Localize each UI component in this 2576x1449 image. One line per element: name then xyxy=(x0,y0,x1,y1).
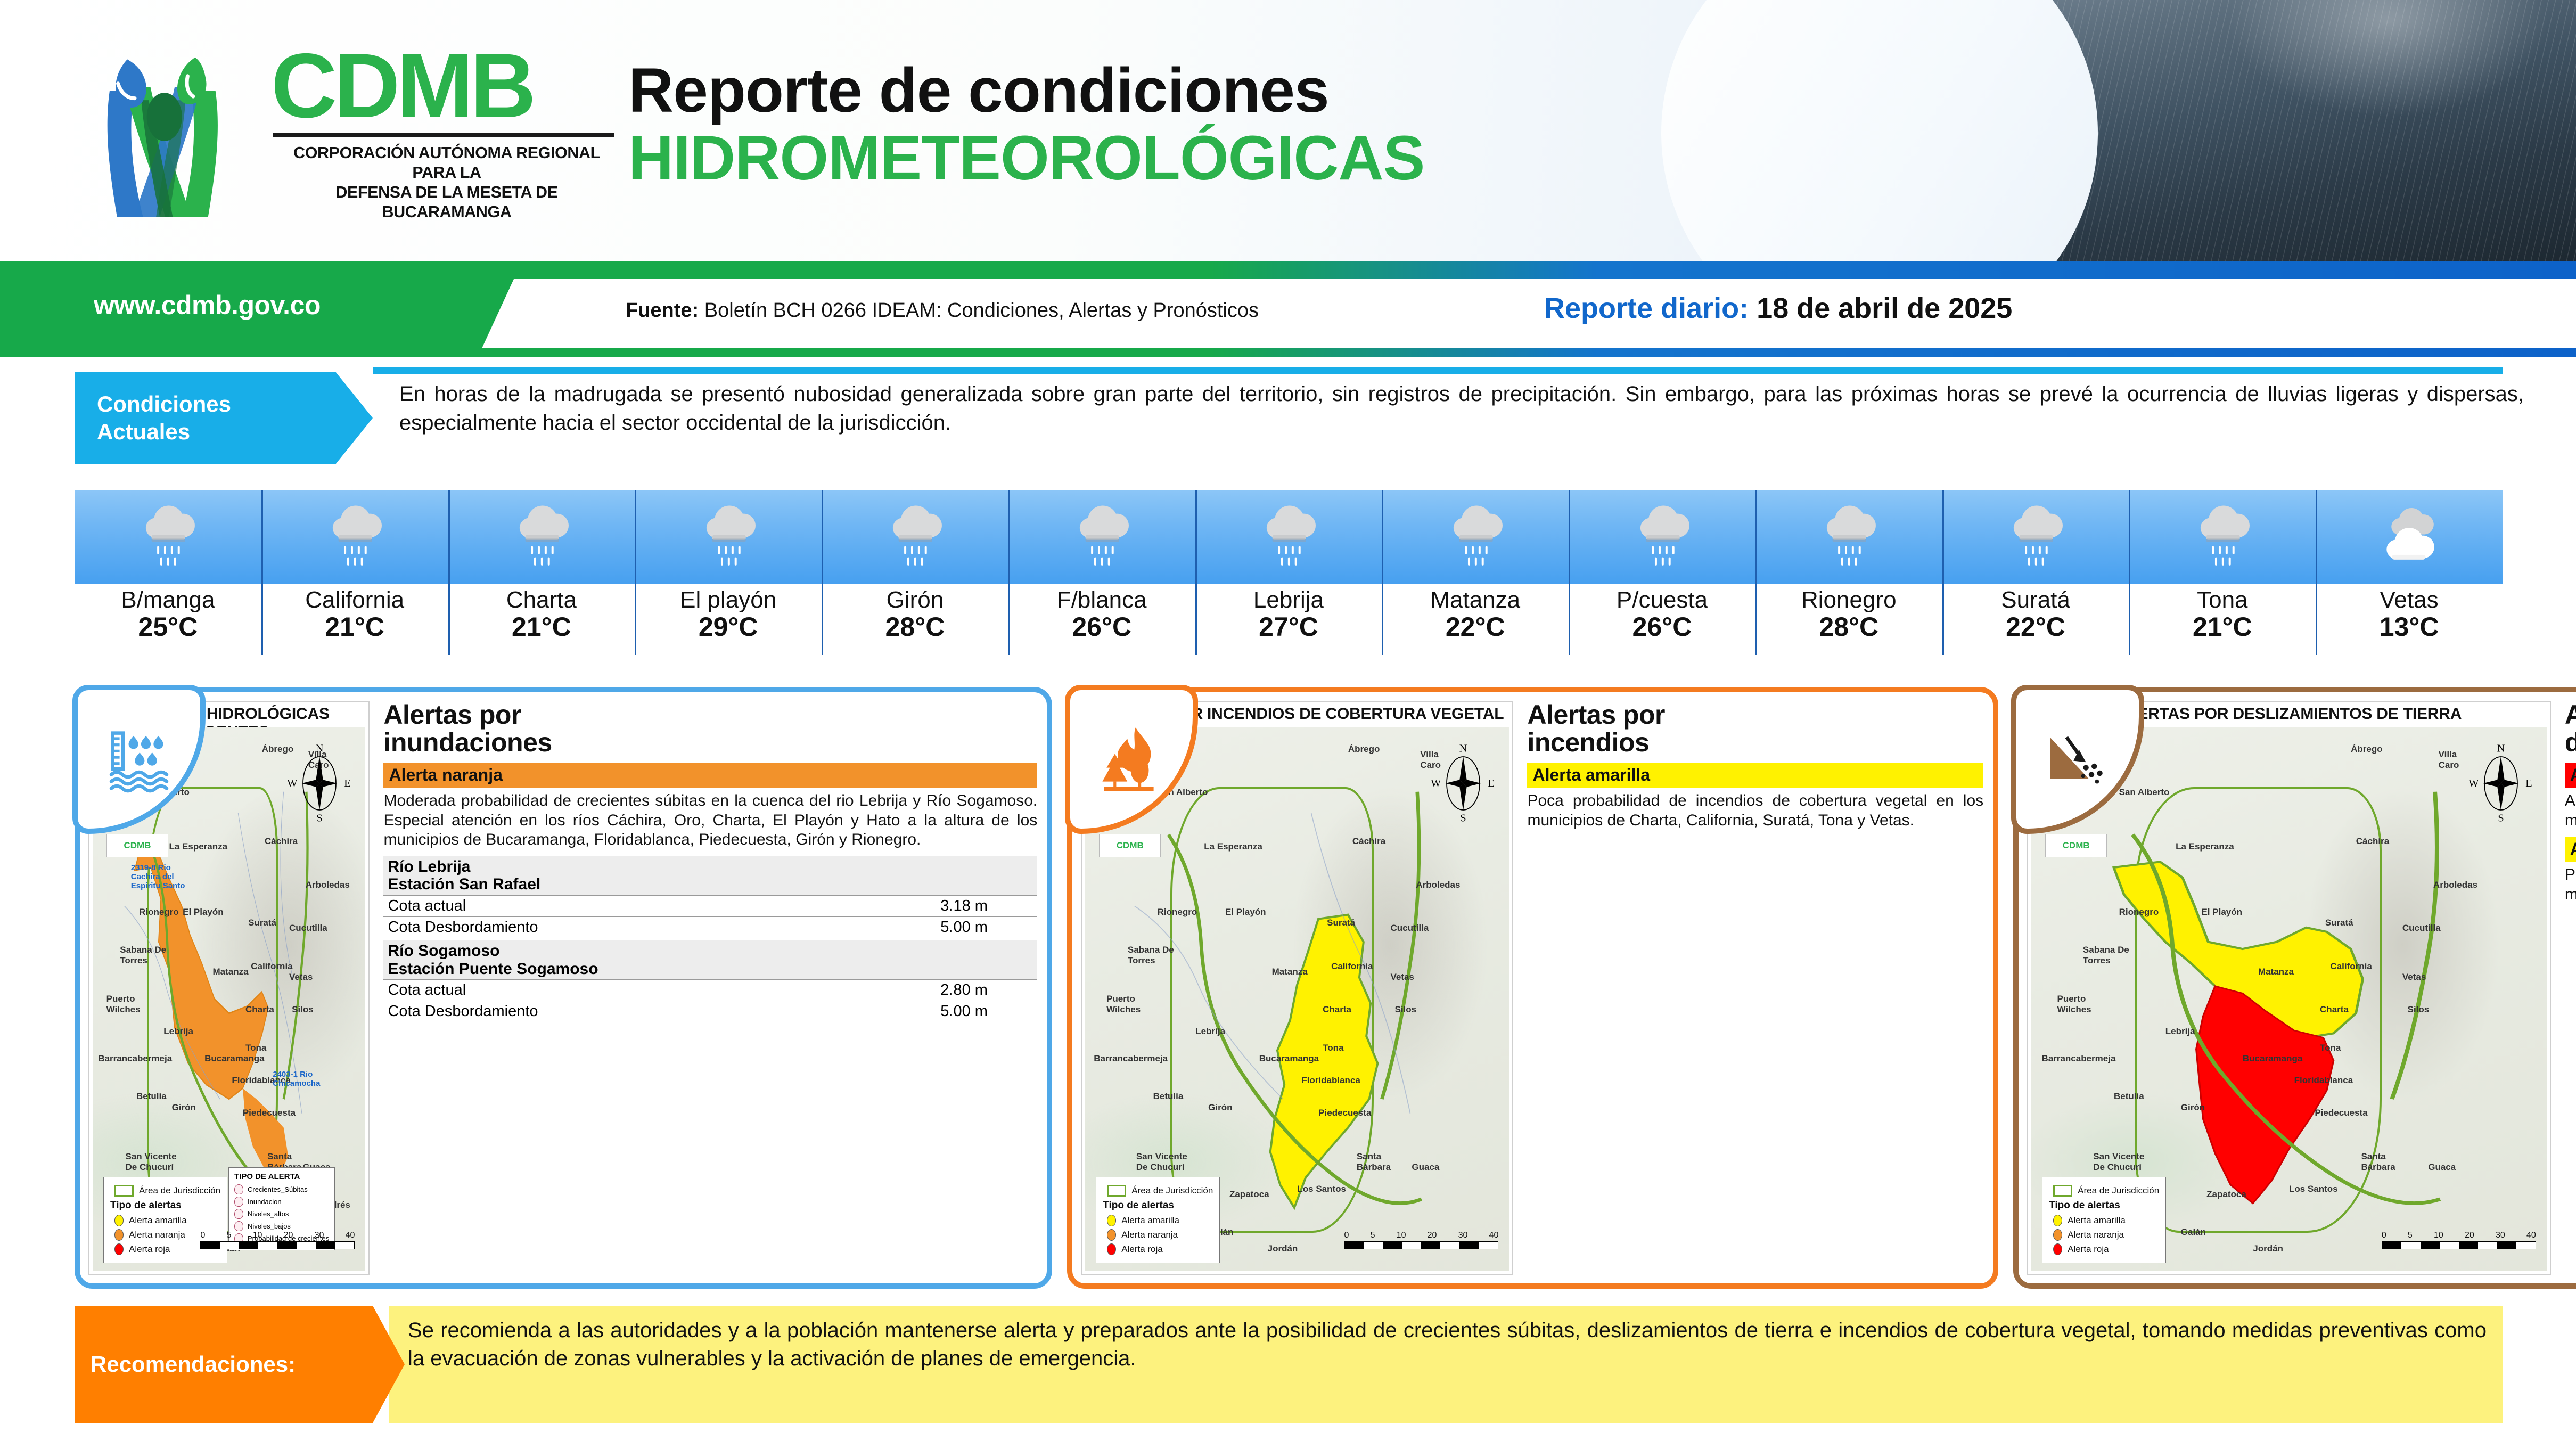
weather-city: Charta xyxy=(448,588,635,612)
river-1-row-0-label: Cota actual xyxy=(383,980,936,1001)
rain-cloud-icon xyxy=(510,504,573,570)
weather-cell-f-blanca: F/blanca26°C xyxy=(1008,490,1195,655)
map-scale-bar: 0 5 10 20 30 40 Km xyxy=(1344,1231,1498,1249)
legend-label-yellow: Alerta amarilla xyxy=(1121,1215,1179,1226)
legend-label-red: Alerta roja xyxy=(129,1244,170,1255)
water-level-gauge-icon xyxy=(104,725,174,794)
map-scale-bar: 0 5 10 20 30 40 Km xyxy=(2382,1231,2536,1249)
alert-type-title: TIPO DE ALERTA xyxy=(234,1172,329,1181)
cdmb-subtitle-line1: CORPORACIÓN AUTÓNOMA REGIONAL PARA LA xyxy=(271,143,622,183)
legend-title: Tipo de alertas xyxy=(2049,1200,2159,1211)
weather-city: Rionegro xyxy=(1755,588,1942,612)
scale-tick-2: 10 xyxy=(2434,1231,2443,1240)
table-row: Cota Desbordamiento 5.00 m xyxy=(383,1001,1037,1022)
alert-type-2: Niveles_altos xyxy=(248,1210,289,1218)
river-0-row-0-value: 3.18 m xyxy=(936,895,1037,916)
alert-pin-icon xyxy=(234,1197,243,1207)
svg-text:S: S xyxy=(1461,812,1466,823)
jurisdiction-swatch xyxy=(114,1185,134,1197)
weather-temp: 27°C xyxy=(1195,612,1382,642)
scale-tick-2: 10 xyxy=(1397,1231,1406,1240)
recommendations-tab: Recomendaciones: xyxy=(75,1306,405,1423)
legend-title: Tipo de alertas xyxy=(110,1200,220,1211)
weather-icon-wrap xyxy=(1942,490,2129,584)
rain-cloud-icon xyxy=(136,504,199,570)
landslides-map-legend: Área de Jurisdicción Tipo de alertas Ale… xyxy=(2042,1177,2166,1263)
weather-cell-lebrija: Lebrija27°C xyxy=(1195,490,1382,655)
svg-text:E: E xyxy=(2525,777,2532,789)
river-0-row-1-label: Cota Desbordamiento xyxy=(383,916,936,938)
river-0-row-1-value: 5.00 m xyxy=(936,916,1037,938)
floods-text-column: Alertas por inundaciones Alerta naranja … xyxy=(370,692,1047,1283)
cdmb-logo-mark xyxy=(75,43,264,224)
yellow-swatch xyxy=(114,1215,124,1226)
source-text: Boletín BCH 0266 IDEAM: Condiciones, Ale… xyxy=(704,299,1259,322)
weather-city: Suratá xyxy=(1942,588,2129,612)
landslides-alert-chip-yellow: Alerta amarilla xyxy=(2565,837,2576,862)
weather-city: El playón xyxy=(635,588,822,612)
weather-icon-wrap xyxy=(75,490,261,584)
legend-item-orange: Alerta naranja xyxy=(1107,1229,1213,1241)
compass-rose-icon: N S E W xyxy=(1431,743,1495,823)
table-row: Cota actual 3.18 m xyxy=(383,895,1037,916)
fires-heading-line2: incendios xyxy=(1527,727,1649,757)
floods-heading-line1: Alertas por xyxy=(383,700,521,730)
fires-text-column: Alertas por incendios Alerta amarilla Po… xyxy=(1513,692,1993,1283)
alert-panels: ALERTAS HIDROLÓGICAS VIGENTES xyxy=(75,687,2503,1289)
weather-icon-wrap xyxy=(2129,490,2316,584)
weather-temp: 26°C xyxy=(1569,612,1755,642)
panel-floods[interactable]: ALERTAS HIDROLÓGICAS VIGENTES xyxy=(75,687,1052,1289)
legend-label-red: Alerta roja xyxy=(1121,1244,1162,1255)
yellow-swatch xyxy=(1107,1215,1116,1226)
report-title-line2: HIDROMETEOROLÓGICAS xyxy=(628,126,1424,191)
weather-cell-b-manga: B/manga25°C xyxy=(75,490,261,655)
weather-city: Lebrija xyxy=(1195,588,1382,612)
weather-city: F/blanca xyxy=(1008,588,1195,612)
page-header: CDMB CORPORACIÓN AUTÓNOMA REGIONAL PARA … xyxy=(0,0,2576,261)
floods-alert-chip: Alerta naranja xyxy=(383,763,1037,788)
scale-tick-0: 0 xyxy=(200,1231,205,1240)
scale-tick-3: 20 xyxy=(2465,1231,2474,1240)
weather-strip: B/manga25°C California21°C xyxy=(75,490,2503,655)
legend-item-orange: Alerta naranja xyxy=(2053,1229,2159,1241)
rain-cloud-icon xyxy=(1817,504,1880,570)
info-bar: www.cdmb.gov.co Fuente: Boletín BCH 0266… xyxy=(0,261,2576,357)
alert-type-row: Niveles_altos xyxy=(234,1209,329,1219)
scale-tick-1: 5 xyxy=(2408,1231,2413,1240)
cdmb-subtitle-line2: DEFENSA DE LA MESETA DE BUCARAMANGA xyxy=(271,183,622,222)
scale-tick-4: 30 xyxy=(315,1231,324,1240)
rain-cloud-icon xyxy=(1631,504,1694,570)
rain-cloud-icon xyxy=(1444,504,1507,570)
svg-text:E: E xyxy=(344,777,351,789)
scale-strip xyxy=(1344,1241,1498,1249)
scale-tick-0: 0 xyxy=(1344,1231,1349,1240)
forest-fire-icon xyxy=(1097,725,1166,794)
weather-city: Matanza xyxy=(1382,588,1569,612)
weather-temp: 22°C xyxy=(1382,612,1569,642)
weather-city: B/manga xyxy=(75,588,261,612)
floods-body: Moderada probabilidad de crecientes súbi… xyxy=(383,791,1037,850)
jurisdiction-swatch xyxy=(1107,1185,1126,1197)
weather-cell-surat-: Suratá22°C xyxy=(1942,490,2129,655)
weather-temp: 28°C xyxy=(1755,612,1942,642)
scale-strip xyxy=(200,1241,355,1249)
current-conditions-section: Condiciones Actuales En horas de la madr… xyxy=(75,367,2503,469)
scale-tick-4: 30 xyxy=(1458,1231,1468,1240)
legend-jurisdiction-row: Área de Jurisdicción xyxy=(2053,1185,2159,1197)
report-date-label: Reporte diario: xyxy=(1544,292,1749,324)
svg-text:W: W xyxy=(2469,777,2479,789)
report-date-line: Reporte diario: 18 de abril de 2025 xyxy=(1544,292,2012,325)
weather-icon-wrap xyxy=(822,490,1008,584)
scale-ticks: 0 5 10 20 30 40 xyxy=(2382,1231,2536,1240)
legend-label-orange: Alerta naranja xyxy=(1121,1230,1178,1240)
weather-icon-wrap xyxy=(448,490,635,584)
scale-tick-3: 20 xyxy=(1428,1231,1437,1240)
report-date-value: 18 de abril de 2025 xyxy=(1757,292,2012,324)
compass-rose-icon: N S E W xyxy=(2469,743,2533,823)
weather-icon-wrap xyxy=(1755,490,1942,584)
rain-cloud-icon xyxy=(2191,504,2254,570)
cdmb-logo: CDMB CORPORACIÓN AUTÓNOMA REGIONAL PARA … xyxy=(75,37,612,229)
alert-type-3: Niveles_bajos xyxy=(248,1222,291,1230)
river-lebrija-table: Río Lebrija Estación San Rafael Cota act… xyxy=(383,856,1037,938)
fires-heading: Alertas por incendios xyxy=(1527,701,1983,756)
conditions-tab-line1: Condiciones xyxy=(97,390,373,418)
rain-cloud-icon xyxy=(2004,504,2067,570)
weather-temp: 25°C xyxy=(75,612,261,642)
weather-city: P/cuesta xyxy=(1569,588,1755,612)
panel-landslides[interactable]: ALERTAS POR DESLIZAMIENTOS DE TIERRA San… xyxy=(2013,687,2576,1289)
river-1-row-1-label: Cota Desbordamiento xyxy=(383,1001,936,1022)
svg-text:E: E xyxy=(1488,777,1495,789)
legend-item-red: Alerta roja xyxy=(1107,1243,1213,1255)
map-cdmb-tag: CDMB xyxy=(1099,834,1161,857)
river-0-station: Estación San Rafael xyxy=(388,875,540,893)
website-url[interactable]: www.cdmb.gov.co xyxy=(94,290,321,321)
table-row: Cota Desbordamiento 5.00 m xyxy=(383,916,1037,938)
legend-label-orange: Alerta naranja xyxy=(2068,1230,2124,1240)
weather-temp: 29°C xyxy=(635,612,822,642)
weather-icon-wrap xyxy=(1382,490,1569,584)
conditions-tab: Condiciones Actuales xyxy=(75,372,373,464)
floods-heading-line2: inundaciones xyxy=(383,727,552,757)
alert-type-row: Crecientes_Súbitas xyxy=(234,1184,329,1194)
rain-cloud-icon xyxy=(1070,504,1133,570)
landslides-heading-line2: deslizamientos xyxy=(2565,727,2576,757)
landslides-map-canvas: San Martín San Alberto Ábrego VillaCaro … xyxy=(2031,727,2547,1271)
weather-icon-wrap xyxy=(635,490,822,584)
fires-map-legend: Área de Jurisdicción Tipo de alertas Ale… xyxy=(1096,1177,1220,1263)
conditions-text: En horas de la madrugada se presentó nub… xyxy=(399,380,2524,437)
weather-cell-california: California21°C xyxy=(261,490,448,655)
weather-icon-wrap xyxy=(2316,490,2503,584)
map-cdmb-tag: CDMB xyxy=(2045,834,2107,857)
table-row: Cota actual 2.80 m xyxy=(383,980,1037,1001)
cloudy-icon xyxy=(2376,507,2442,566)
svg-text:W: W xyxy=(288,777,298,789)
report-title: Reporte de condiciones HIDROMETEOROLÓGIC… xyxy=(628,59,1424,191)
rain-cloud-icon xyxy=(697,504,760,570)
river-1-header: Río Sogamoso Estación Puente Sogamoso xyxy=(383,940,1037,980)
conditions-tab-line2: Actuales xyxy=(97,418,373,446)
legend-jurisdiction-row: Área de Jurisdicción xyxy=(1107,1185,1213,1197)
source-label: Fuente: xyxy=(626,299,699,322)
weather-temp: 21°C xyxy=(2129,612,2316,642)
landslides-body-red: Alta probabilidad de deslizamientos de t… xyxy=(2565,791,2576,830)
alert-pin-icon xyxy=(234,1184,243,1194)
legend-label-yellow: Alerta amarilla xyxy=(2068,1215,2126,1226)
river-1-station: Estación Puente Sogamoso xyxy=(388,960,598,978)
weather-cell-charta: Charta21°C xyxy=(448,490,635,655)
weather-icon-wrap xyxy=(1569,490,1755,584)
weather-cell-tona: Tona21°C xyxy=(2129,490,2316,655)
weather-temp: 21°C xyxy=(261,612,448,642)
jurisdiction-label: Área de Jurisdicción xyxy=(2078,1185,2159,1196)
landslides-heading: Alertas por deslizamientos xyxy=(2565,701,2576,756)
rain-cloud-icon xyxy=(323,504,386,570)
source-line: Fuente: Boletín BCH 0266 IDEAM: Condicio… xyxy=(626,299,1259,322)
weather-city: Girón xyxy=(822,588,1008,612)
orange-swatch xyxy=(114,1229,124,1241)
weather-temp: 13°C xyxy=(2316,612,2503,642)
weather-temp: 21°C xyxy=(448,612,635,642)
jurisdiction-label: Área de Jurisdicción xyxy=(1131,1185,1213,1196)
red-swatch xyxy=(1107,1243,1116,1255)
landslides-heading-line1: Alertas por xyxy=(2565,700,2576,730)
svg-text:N: N xyxy=(2497,743,2505,754)
legend-title: Tipo de alertas xyxy=(1103,1200,1213,1211)
floods-heading: Alertas por inundaciones xyxy=(383,701,1037,756)
svg-text:S: S xyxy=(317,812,323,823)
fires-heading-line1: Alertas por xyxy=(1527,700,1664,730)
compass-rose-icon: N S E W xyxy=(288,743,351,823)
river-sogamoso-table: Río Sogamoso Estación Puente Sogamoso Co… xyxy=(383,940,1037,1022)
legend-label-orange: Alerta naranja xyxy=(129,1230,185,1240)
cdmb-acronym: CDMB xyxy=(271,44,622,128)
recommendations-section: Se recomienda a las autoridades y a la p… xyxy=(75,1306,2503,1423)
red-swatch xyxy=(114,1243,124,1255)
weather-cell-vetas: Vetas13°C xyxy=(2316,490,2503,655)
floods-map-legend: Área de Jurisdicción Tipo de alertas Ale… xyxy=(103,1177,227,1263)
weather-city: Vetas xyxy=(2316,588,2503,612)
river-1-name: Río Sogamoso xyxy=(388,942,499,960)
orange-swatch xyxy=(2053,1229,2062,1241)
scale-tick-0: 0 xyxy=(2382,1231,2386,1240)
cdmb-logo-text: CDMB CORPORACIÓN AUTÓNOMA REGIONAL PARA … xyxy=(271,44,622,222)
yellow-swatch xyxy=(2053,1215,2062,1226)
landslide-icon xyxy=(2043,725,2112,794)
weather-cell-gir-n: Girón28°C xyxy=(822,490,1008,655)
panel-fires[interactable]: ALERTAS POR INCENDIOS DE COBERTURA VEGET… xyxy=(1067,687,1998,1289)
river-0-header: Río Lebrija Estación San Rafael xyxy=(383,856,1037,896)
weather-cell-el-play-n: El playón29°C xyxy=(635,490,822,655)
landslides-text-column: Alertas por deslizamientos Alerta roja A… xyxy=(2551,692,2576,1283)
svg-text:N: N xyxy=(316,743,324,754)
legend-label-yellow: Alerta amarilla xyxy=(129,1215,187,1226)
fires-alert-chip: Alerta amarilla xyxy=(1527,763,1983,788)
jurisdiction-swatch xyxy=(2053,1185,2072,1197)
report-page: CDMB CORPORACIÓN AUTÓNOMA REGIONAL PARA … xyxy=(0,0,2576,1449)
river-0-row-0-label: Cota actual xyxy=(383,895,936,916)
fires-body: Poca probabilidad de incendios de cobert… xyxy=(1527,791,1983,830)
scale-tick-5: 40 xyxy=(346,1231,355,1240)
weather-city: California xyxy=(261,588,448,612)
weather-temp: 22°C xyxy=(1942,612,2129,642)
map-cdmb-tag: CDMB xyxy=(106,834,168,857)
weather-temp: 28°C xyxy=(822,612,1008,642)
river-1-row-1-value: 5.00 m xyxy=(936,1001,1037,1022)
red-swatch xyxy=(2053,1243,2062,1255)
svg-text:S: S xyxy=(2498,812,2504,823)
weather-icon-wrap xyxy=(1008,490,1195,584)
jurisdiction-label: Área de Jurisdicción xyxy=(139,1185,220,1196)
recommendations-text: Se recomienda a las autoridades y a la p… xyxy=(389,1306,2503,1423)
conditions-top-rule xyxy=(373,367,2503,374)
scale-tick-5: 40 xyxy=(2526,1231,2536,1240)
weather-city: Tona xyxy=(2129,588,2316,612)
weather-temp: 26°C xyxy=(1008,612,1195,642)
river-1-row-0-value: 2.80 m xyxy=(936,980,1037,1001)
scale-ticks: 0 5 10 20 30 40 xyxy=(200,1231,355,1240)
scale-tick-2: 10 xyxy=(253,1231,262,1240)
alert-type-1: Inundacion xyxy=(248,1198,282,1206)
svg-text:N: N xyxy=(1459,743,1467,754)
weather-icon-wrap xyxy=(261,490,448,584)
landslides-body-yellow: Poca probabilidad de deslizamientos de t… xyxy=(2565,865,2576,904)
scale-tick-3: 20 xyxy=(284,1231,293,1240)
svg-text:W: W xyxy=(1431,777,1441,789)
alert-pin-icon xyxy=(234,1209,243,1219)
rain-cloud-icon xyxy=(1257,504,1320,570)
orange-swatch xyxy=(1107,1229,1116,1241)
scale-tick-1: 5 xyxy=(1371,1231,1375,1240)
alert-pin-icon xyxy=(234,1221,243,1231)
legend-item-red: Alerta roja xyxy=(2053,1243,2159,1255)
rain-cloud-icon xyxy=(883,504,946,570)
legend-item-yellow: Alerta amarilla xyxy=(1107,1215,1213,1226)
legend-item-yellow: Alerta amarilla xyxy=(114,1215,220,1226)
river-0-name: Río Lebrija xyxy=(388,858,470,875)
alert-type-0: Crecientes_Súbitas xyxy=(248,1185,308,1193)
landslides-alert-chip-red: Alerta roja xyxy=(2565,763,2576,788)
scale-tick-4: 30 xyxy=(2496,1231,2505,1240)
weather-icon-wrap xyxy=(1195,490,1382,584)
legend-item-yellow: Alerta amarilla xyxy=(2053,1215,2159,1226)
legend-jurisdiction-row: Área de Jurisdicción xyxy=(114,1185,220,1197)
scale-tick-1: 5 xyxy=(227,1231,232,1240)
legend-label-red: Alerta roja xyxy=(2068,1244,2109,1255)
weather-cell-p-cuesta: P/cuesta26°C xyxy=(1569,490,1755,655)
scale-tick-5: 40 xyxy=(1489,1231,1499,1240)
weather-cell-matanza: Matanza22°C xyxy=(1382,490,1569,655)
weather-cell-rionegro: Rionegro28°C xyxy=(1755,490,1942,655)
alert-type-row: Niveles_bajos xyxy=(234,1221,329,1231)
scale-ticks: 0 5 10 20 30 40 xyxy=(1344,1231,1498,1240)
scale-strip xyxy=(2382,1241,2536,1249)
report-title-line1: Reporte de condiciones xyxy=(628,59,1424,122)
alert-type-row: Inundacion xyxy=(234,1197,329,1207)
map-scale-bar: 0 5 10 20 30 40 Km xyxy=(200,1231,355,1249)
